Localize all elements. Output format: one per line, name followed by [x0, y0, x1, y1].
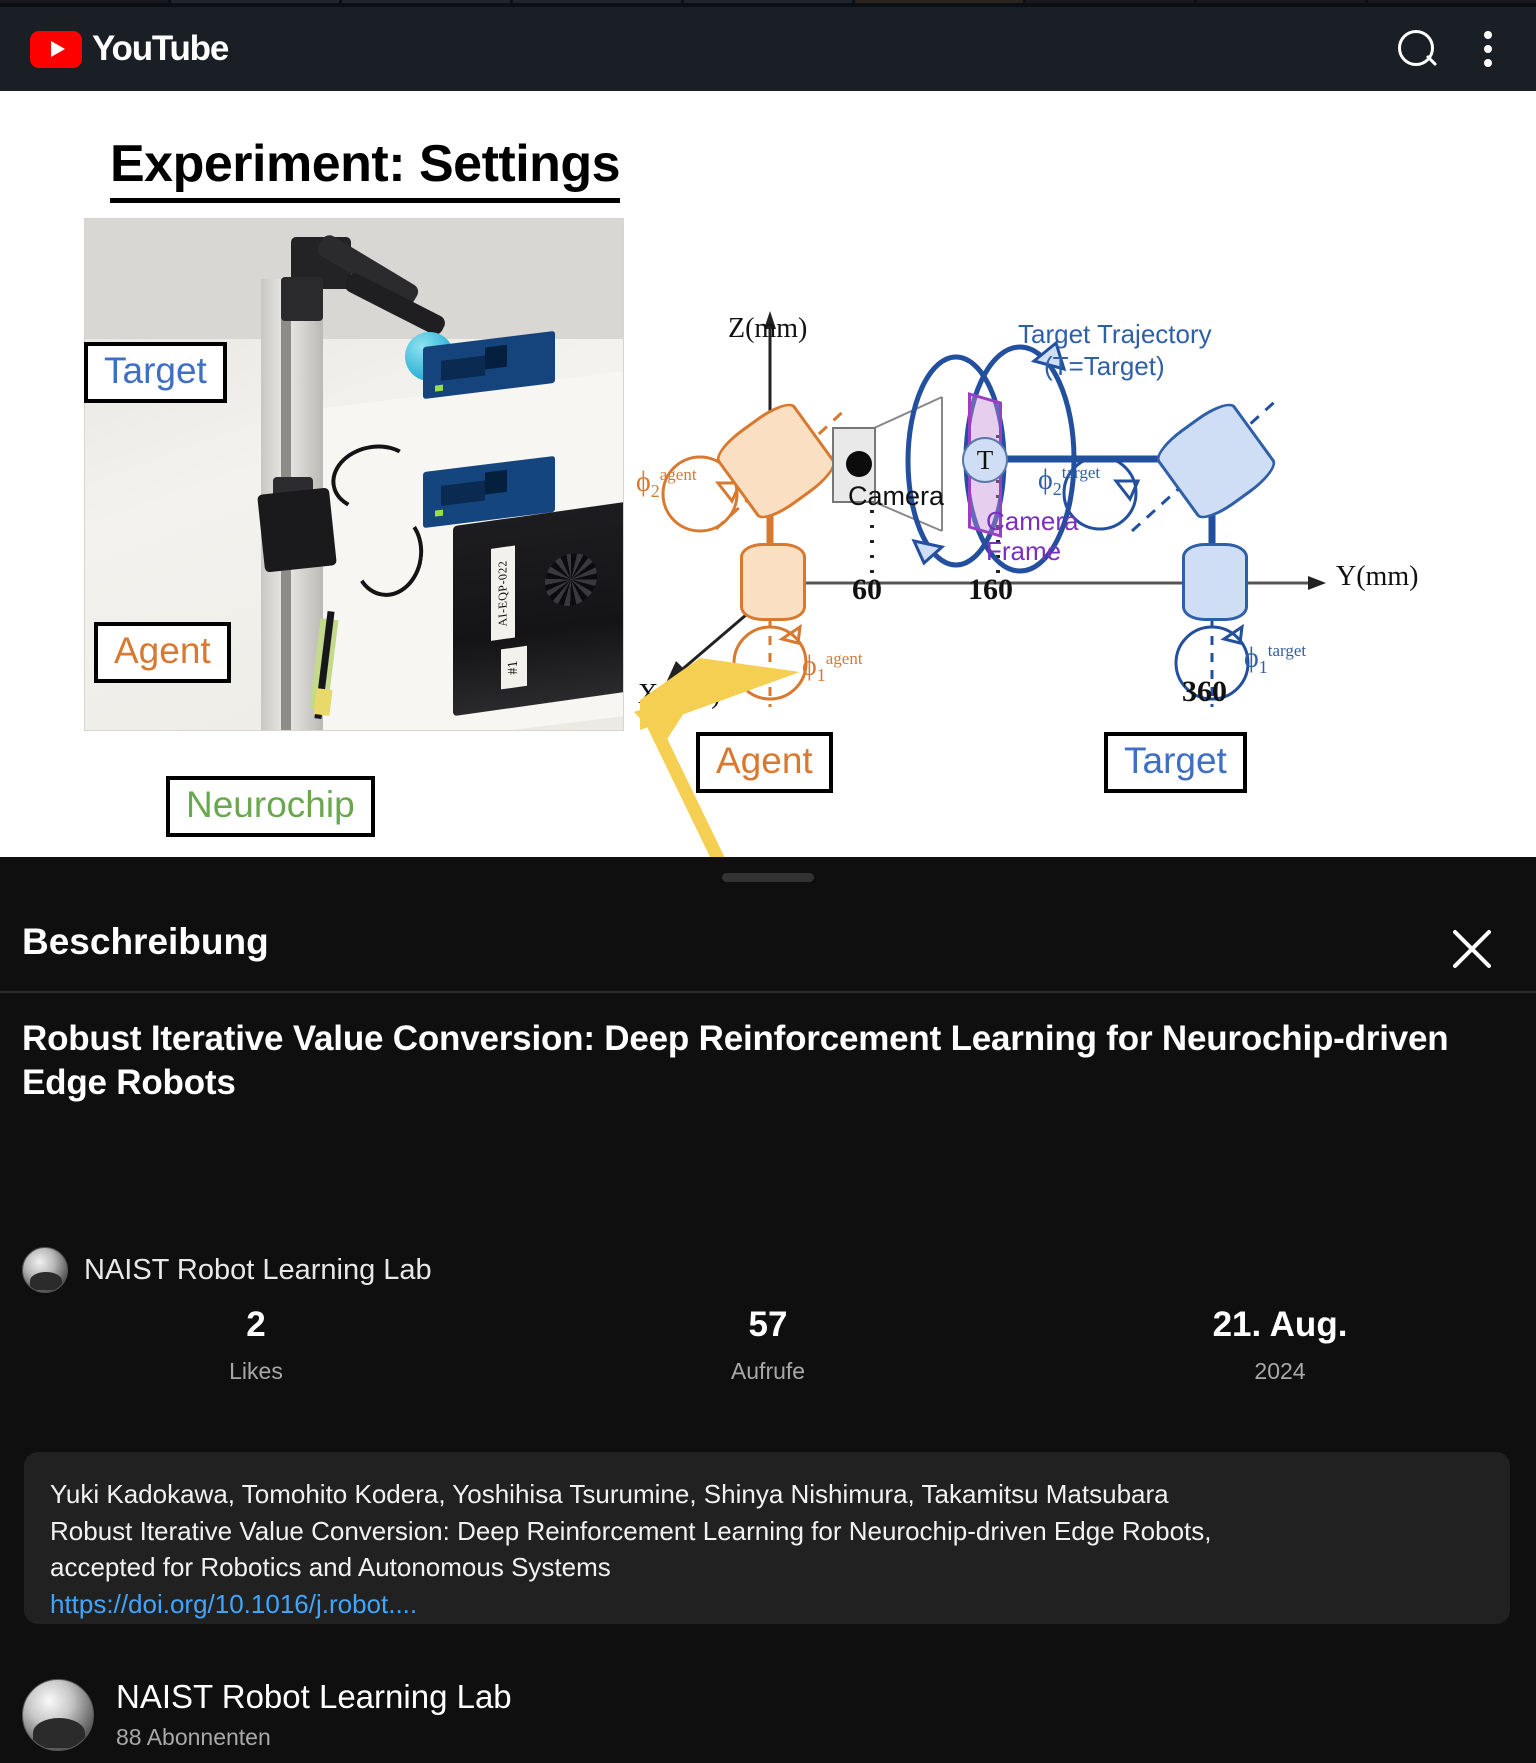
photo-board-chip [485, 345, 507, 370]
axis-label-y: Y(mm) [1336, 561, 1418, 593]
photo-unit-tag: #1 [501, 646, 527, 690]
story-segment[interactable] [0, 0, 168, 3]
channel-subscriber-count: 88 Abonnenten [116, 1724, 512, 1751]
description-venue: accepted for Robotics and Autonomous Sys… [50, 1549, 1484, 1586]
photo-label-agent: Agent [94, 622, 231, 683]
stat-likes[interactable]: 2 Likes [0, 1305, 512, 1385]
photo-neurochip-device: AI-EQP-022 #1 brainchip [453, 496, 624, 716]
sheet-header: Beschreibung [0, 857, 1536, 991]
agent-joint-cylinder [710, 396, 842, 527]
description-doi-link[interactable]: https://doi.org/10.1016/j.robot.... [50, 1586, 1484, 1623]
youtube-wordmark: YouTube [92, 29, 228, 69]
axis-label-z: Z(mm) [728, 313, 807, 345]
diagram-label-target: Target [1104, 732, 1247, 793]
photo-board-header [441, 355, 485, 380]
photo-yellow-marker [313, 688, 332, 716]
story-segment[interactable] [171, 0, 339, 3]
description-text-card[interactable]: Yuki Kadokawa, Tomohito Kodera, Yoshihis… [24, 1452, 1510, 1624]
camera-lens-icon [846, 451, 872, 477]
stat-views[interactable]: 57 Aufrufe [512, 1305, 1024, 1385]
close-icon[interactable] [1448, 925, 1496, 973]
description-paper-title: Robust Iterative Value Conversion: Deep … [50, 1513, 1484, 1550]
photo-device-fan [545, 550, 597, 609]
search-icon[interactable] [1396, 28, 1438, 70]
story-segment[interactable] [1026, 0, 1194, 3]
photo-label-neurochip: Neurochip [166, 776, 375, 837]
channel-meta: NAIST Robot Learning Lab 88 Abonnenten [116, 1678, 512, 1751]
phi1-agent-symbol: ϕ1agent [802, 649, 863, 686]
agent-base-cylinder [740, 543, 806, 621]
youtube-logo[interactable]: YouTube [30, 29, 228, 69]
tick-label-360: 360 [1182, 675, 1227, 709]
setup-details-diagram: T Z(mm) Y(mm) X(mm) Camera Camera Frame … [620, 211, 1380, 741]
story-segment[interactable] [342, 0, 510, 3]
channel-avatar-large [22, 1679, 94, 1751]
photo-label-target: Target [84, 342, 227, 403]
channel-avatar-small [22, 1247, 68, 1293]
phi-superscript: target [1268, 641, 1306, 660]
diagram-label-agent: Agent [696, 732, 833, 793]
story-progress-bar[interactable] [0, 0, 1536, 7]
target-joint-cylinder [1150, 396, 1282, 527]
video-player-slide[interactable]: Experiment: Settings [0, 91, 1536, 857]
stat-label: Aufrufe [512, 1358, 1024, 1385]
kebab-dot [1484, 59, 1492, 67]
phi-glyph: ϕ [1038, 464, 1053, 495]
photo-board-header [441, 480, 485, 505]
target-trajectory-label-line2: (T=Target) [1044, 351, 1165, 382]
channel-name-inline: NAIST Robot Learning Lab [84, 1254, 432, 1287]
phi-glyph: ϕ [802, 650, 817, 681]
photo-equipment-id: AI-EQP-022 [496, 559, 511, 627]
axis-label-x: X(mm) [638, 679, 720, 711]
story-segment[interactable] [1368, 0, 1536, 3]
stat-label: 2024 [1024, 1358, 1536, 1385]
phi-glyph: ϕ [636, 466, 651, 497]
play-triangle-icon [30, 31, 82, 68]
channel-row-footer[interactable]: NAIST Robot Learning Lab 88 Abonnenten [22, 1678, 512, 1751]
story-segment[interactable] [1197, 0, 1365, 3]
slide-title: Experiment: Settings [110, 134, 620, 203]
kebab-dot [1484, 31, 1492, 39]
phi-superscript: agent [826, 649, 863, 668]
app-header: YouTube [0, 7, 1536, 91]
stat-value: 2 [0, 1305, 512, 1345]
story-segment[interactable] [684, 0, 852, 3]
photo-unit-number: #1 [506, 659, 522, 675]
sheet-heading: Beschreibung [22, 921, 269, 963]
target-marker-T: T [962, 437, 1008, 483]
stat-label: Likes [0, 1358, 512, 1385]
camera-frame-text-label: Camera Frame [986, 507, 1106, 567]
tick-label-60: 60 [852, 573, 882, 607]
video-stats-row: 2 Likes 57 Aufrufe 21. Aug. 2024 [0, 1305, 1536, 1385]
phi2-agent-symbol: ϕ2agent [636, 465, 697, 502]
photo-agent-camera [257, 487, 337, 572]
header-divider [0, 991, 1536, 993]
photo-board-chip [485, 470, 507, 495]
phi2-target-symbol: ϕ2target [1038, 463, 1100, 500]
video-title: Robust Iterative Value Conversion: Deep … [22, 1017, 1492, 1105]
phi-superscript: target [1062, 463, 1100, 482]
channel-name-footer: NAIST Robot Learning Lab [116, 1678, 512, 1716]
stat-value: 57 [512, 1305, 1024, 1345]
phi-subscript: 2 [651, 481, 660, 501]
channel-row-inline[interactable]: NAIST Robot Learning Lab [22, 1247, 432, 1293]
camera-text-label: Camera [848, 481, 944, 512]
story-segment[interactable] [855, 0, 1023, 3]
kebab-dot [1484, 45, 1492, 53]
phi1-target-symbol: ϕ1target [1244, 641, 1306, 678]
phi-subscript: 1 [1259, 657, 1268, 677]
target-trajectory-label-line1: Target Trajectory [1018, 319, 1212, 350]
phi-glyph: ϕ [1244, 642, 1259, 673]
story-segment[interactable] [513, 0, 681, 3]
stat-date[interactable]: 21. Aug. 2024 [1024, 1305, 1536, 1385]
phi-superscript: agent [660, 465, 697, 484]
tick-label-160: 160 [968, 573, 1013, 607]
target-base-cylinder [1182, 543, 1248, 621]
phi-subscript: 1 [817, 665, 826, 685]
youtube-mobile-screen: YouTube Experiment: Settings [0, 0, 1536, 1763]
photo-robot-arm-joint [281, 277, 323, 321]
photo-board-led [435, 510, 443, 517]
phi-subscript: 2 [1053, 479, 1062, 499]
kebab-menu-icon[interactable] [1484, 31, 1492, 67]
photo-equipment-tag: AI-EQP-022 [491, 545, 515, 640]
stat-value: 21. Aug. [1024, 1305, 1536, 1345]
description-authors: Yuki Kadokawa, Tomohito Kodera, Yoshihis… [50, 1476, 1484, 1513]
photo-board-led [435, 385, 443, 392]
